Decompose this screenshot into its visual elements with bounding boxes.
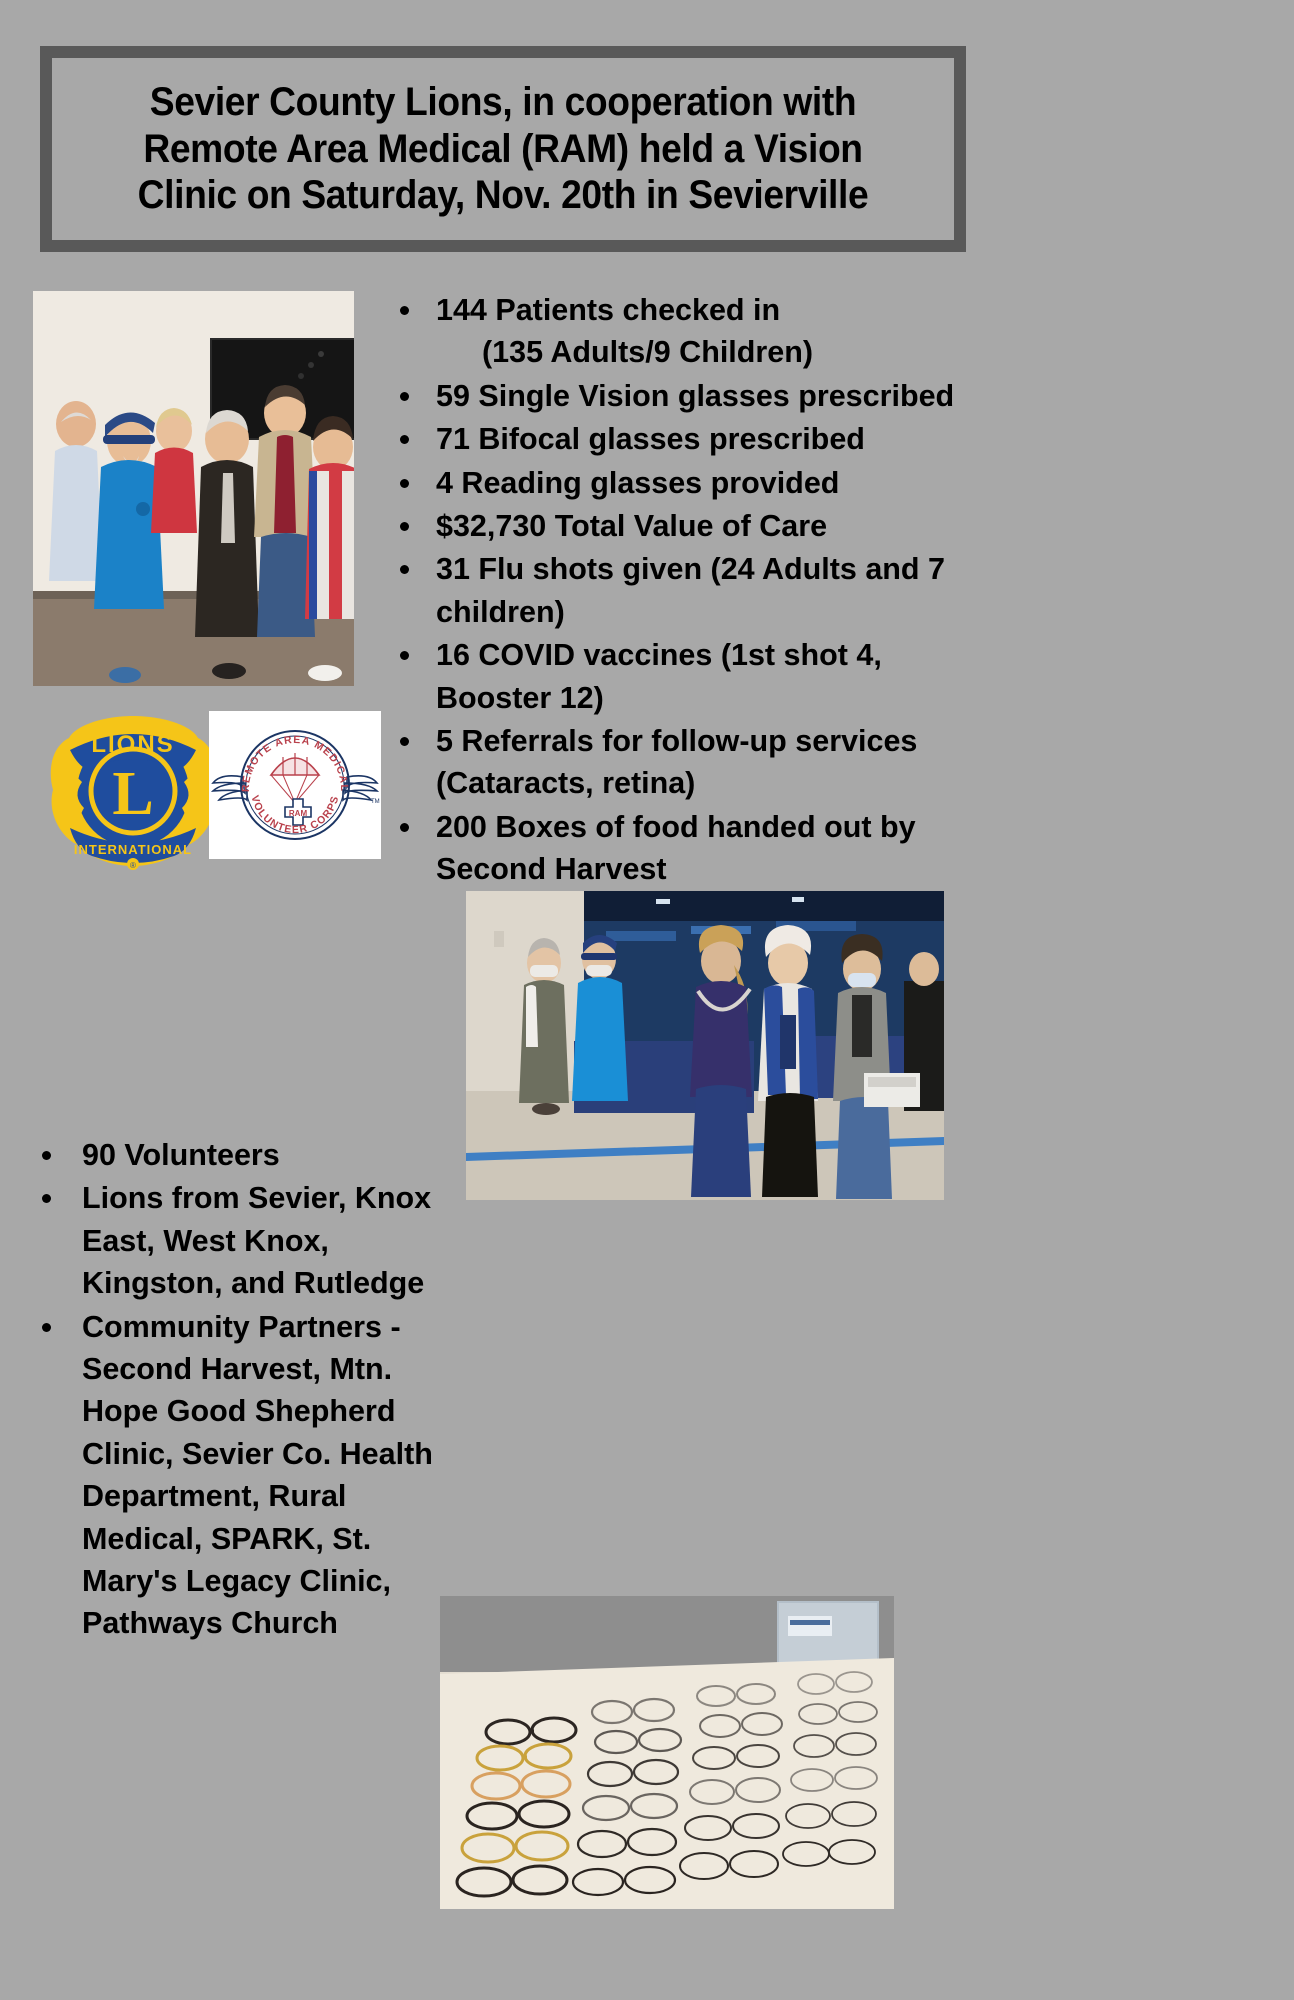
- lions-logo-center-letter: L: [112, 760, 153, 828]
- list-item-label: 59 Single Vision glasses prescribed: [436, 375, 980, 417]
- bullet-dot: [400, 651, 409, 660]
- group-photo-image: [33, 291, 354, 686]
- list-item: 200 Boxes of food handed out by Second H…: [400, 806, 980, 891]
- list-item: Lions from Sevier, Knox East, West Knox,…: [42, 1177, 452, 1304]
- list-item-label: 16 COVID vaccines (1st shot 4, Booster 1…: [436, 634, 980, 719]
- lions-logo-registered-mark: ®: [130, 861, 136, 870]
- list-item-continuation: (135 Adults/9 Children): [436, 331, 980, 373]
- eyeglasses-photo: [440, 1596, 894, 1909]
- bullet-dot: [42, 1323, 51, 1332]
- list-item-label: 5 Referrals for follow-up services (Cata…: [436, 720, 980, 805]
- list-item-label: Community Partners - Second Harvest, Mtn…: [82, 1306, 452, 1645]
- list-item-label: 71 Bifocal glasses prescribed: [436, 418, 980, 460]
- list-item-label: Lions from Sevier, Knox East, West Knox,…: [82, 1177, 452, 1304]
- bullet-dot: [400, 306, 409, 315]
- ram-logo-trademark: TM: [371, 799, 380, 805]
- bullet-dot: [400, 823, 409, 832]
- ram-logo-image: RAM REMOTE AREA MEDICAL VOLUNTEER CORPS …: [209, 711, 381, 859]
- list-item: 90 Volunteers: [42, 1134, 452, 1176]
- list-item: 31 Flu shots given (24 Adults and 7 chil…: [400, 548, 980, 633]
- clinic-statistics-list: 144 Patients checked in (135 Adults/9 Ch…: [400, 289, 980, 891]
- page-title: Sevier County Lions, in cooperation with…: [97, 79, 910, 218]
- bullet-dot: [400, 522, 409, 531]
- bullet-dot: [400, 435, 409, 444]
- bullet-dot: [400, 392, 409, 401]
- bullet-dot: [42, 1151, 51, 1160]
- list-item: 144 Patients checked in (135 Adults/9 Ch…: [400, 289, 980, 374]
- list-item: $32,730 Total Value of Care: [400, 505, 980, 547]
- list-item-label: 200 Boxes of food handed out by Second H…: [436, 806, 980, 891]
- clinic-photo-image: [466, 891, 944, 1200]
- bullet-dot: [400, 565, 409, 574]
- list-item: Community Partners - Second Harvest, Mtn…: [42, 1306, 452, 1645]
- ram-logo-center-label: RAM: [289, 809, 308, 818]
- list-item: 71 Bifocal glasses prescribed: [400, 418, 980, 460]
- list-item-label: 4 Reading glasses provided: [436, 462, 980, 504]
- lions-logo-top-word: LIONS: [91, 731, 174, 758]
- list-item-label: $32,730 Total Value of Care: [436, 505, 980, 547]
- list-item-label: 90 Volunteers: [82, 1134, 452, 1176]
- list-item: 59 Single Vision glasses prescribed: [400, 375, 980, 417]
- ram-volunteer-corps-logo: RAM REMOTE AREA MEDICAL VOLUNTEER CORPS …: [209, 711, 381, 859]
- list-item-label: 31 Flu shots given (24 Adults and 7 chil…: [436, 548, 980, 633]
- title-banner-inner: Sevier County Lions, in cooperation with…: [52, 58, 954, 240]
- lions-logo-image: LIONS L INTERNATIONAL ®: [46, 708, 221, 871]
- list-item: 16 COVID vaccines (1st shot 4, Booster 1…: [400, 634, 980, 719]
- bullet-dot: [400, 479, 409, 488]
- team-and-partners-list: 90 Volunteers Lions from Sevier, Knox Ea…: [42, 1134, 452, 1646]
- lions-logo-bottom-word: INTERNATIONAL: [74, 842, 192, 857]
- clinic-photo: [466, 891, 944, 1200]
- bullet-dot: [42, 1194, 51, 1203]
- group-photo: [33, 291, 354, 686]
- eyeglasses-photo-image: [440, 1596, 894, 1909]
- title-banner: Sevier County Lions, in cooperation with…: [40, 46, 966, 252]
- list-item-label: 144 Patients checked in: [436, 289, 980, 331]
- bullet-dot: [400, 737, 409, 746]
- list-item: 4 Reading glasses provided: [400, 462, 980, 504]
- lions-international-logo: LIONS L INTERNATIONAL ®: [46, 708, 221, 871]
- list-item: 5 Referrals for follow-up services (Cata…: [400, 720, 980, 805]
